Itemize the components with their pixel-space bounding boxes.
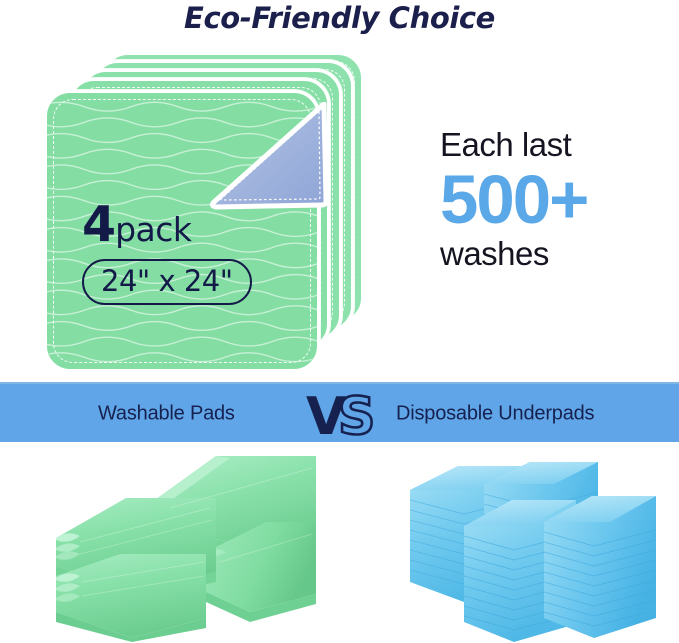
claim-line-1: Each last [440,128,670,163]
claim-line-3: washes [440,237,670,272]
svg-text:S: S [338,390,375,440]
pack-count-number: 4 [82,196,115,253]
pad-stack-illustration: 4pack 24" x 24" [36,52,366,360]
pack-count-word: pack [115,210,191,249]
claim-wash-count: 500+ [440,165,670,235]
versus-icon: V S [306,390,382,440]
pad-size-badge: 24" x 24" [82,259,252,305]
photo-washable-pads [20,442,350,643]
photo-disposable-underpads [388,442,679,643]
pack-count: 4pack [82,200,302,249]
page-title: Eco-Friendly Choice [0,1,679,35]
pad-copy-block: 4pack 24" x 24" [82,200,302,305]
bottom-photo-row [0,442,679,643]
folded-corner-backing [206,102,328,212]
infographic-canvas: Eco-Friendly Choice [0,0,679,643]
banner-label-washable: Washable Pads [98,403,235,426]
banner-label-disposable: Disposable Underpads [396,403,594,426]
comparison-banner: Washable Pads V S Disposable Underpads [0,382,679,444]
durability-claim: Each last 500+ washes [440,128,670,272]
